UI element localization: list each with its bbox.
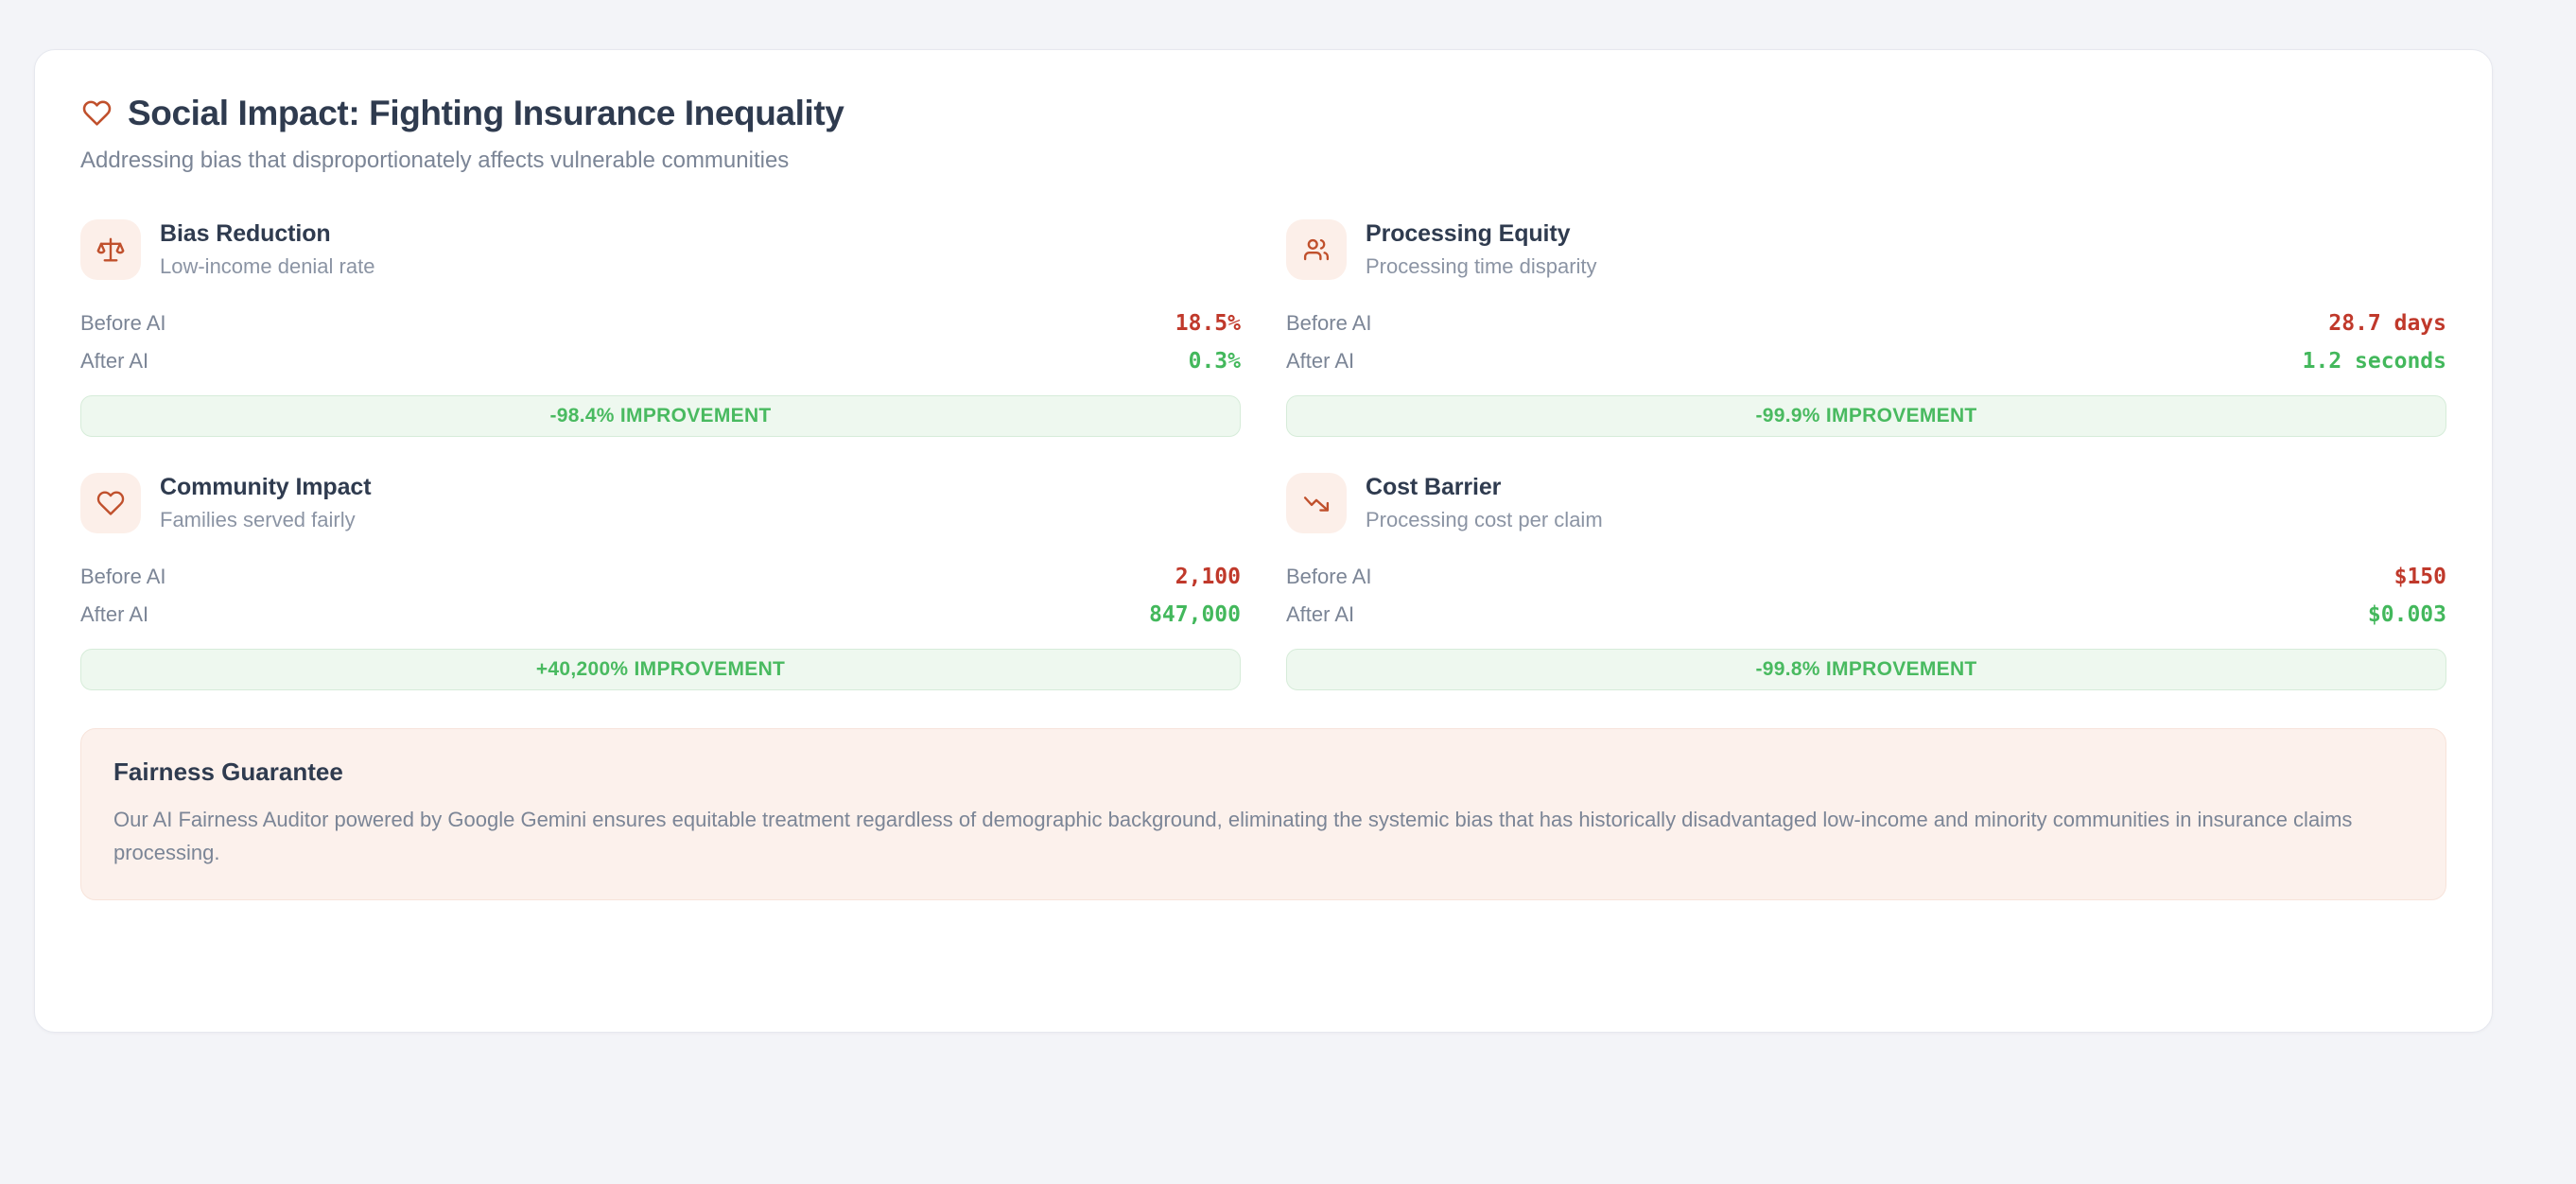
stat-row-after: After AI $0.003 [1286, 596, 2446, 634]
page-root: Social Impact: Fighting Insurance Inequa… [0, 0, 2576, 1184]
metric-titles: Cost Barrier Processing cost per claim [1366, 473, 1603, 532]
guarantee-body: Our AI Fairness Auditor powered by Googl… [113, 804, 2411, 870]
social-impact-panel: Social Impact: Fighting Insurance Inequa… [34, 49, 2493, 1033]
metric-card-processing-equity: Processing Equity Processing time dispar… [1286, 208, 2446, 437]
stat-value-before: 2,100 [1175, 565, 1241, 589]
improvement-badge: -99.8% IMPROVEMENT [1286, 649, 2446, 690]
stat-label-before: Before AI [80, 311, 166, 336]
metric-name: Processing Equity [1366, 219, 1597, 248]
stat-row-after: After AI 847,000 [80, 596, 1241, 634]
title-row: Social Impact: Fighting Insurance Inequa… [80, 94, 2446, 132]
improvement-badge: -99.9% IMPROVEMENT [1286, 395, 2446, 437]
metric-card-community-impact: Community Impact Families served fairly … [80, 461, 1241, 690]
stat-value-before: 28.7 days [2328, 311, 2446, 336]
metric-name: Community Impact [160, 473, 371, 501]
stat-label-after: After AI [80, 349, 148, 374]
improvement-badge: +40,200% IMPROVEMENT [80, 649, 1241, 690]
stat-label-after: After AI [1286, 349, 1354, 374]
stat-value-before: $150 [2394, 565, 2446, 589]
page-title: Social Impact: Fighting Insurance Inequa… [128, 94, 844, 132]
stat-label-before: Before AI [80, 565, 166, 589]
stat-value-before: 18.5% [1175, 311, 1241, 336]
trending-down-icon [1286, 473, 1347, 533]
heart-icon [80, 97, 113, 130]
heart-icon [80, 473, 141, 533]
stat-row-after: After AI 1.2 seconds [1286, 342, 2446, 380]
stat-label-after: After AI [1286, 602, 1354, 627]
metric-name: Cost Barrier [1366, 473, 1603, 501]
improvement-badge: -98.4% IMPROVEMENT [80, 395, 1241, 437]
stat-row-after: After AI 0.3% [80, 342, 1241, 380]
page-subtitle: Addressing bias that disproportionately … [80, 146, 2446, 175]
metric-description: Families served fairly [160, 508, 371, 532]
stat-label-before: Before AI [1286, 311, 1372, 336]
stat-row-before: Before AI $150 [1286, 558, 2446, 596]
metric-header: Bias Reduction Low-income denial rate [80, 219, 1241, 280]
metric-titles: Processing Equity Processing time dispar… [1366, 219, 1597, 279]
metric-grid: Bias Reduction Low-income denial rate Be… [80, 208, 2446, 690]
fairness-guarantee-note: Fairness Guarantee Our AI Fairness Audit… [80, 728, 2446, 901]
stat-value-after: $0.003 [2368, 602, 2446, 627]
stat-label-after: After AI [80, 602, 148, 627]
stat-row-before: Before AI 2,100 [80, 558, 1241, 596]
users-icon [1286, 219, 1347, 280]
metric-description: Low-income denial rate [160, 254, 374, 279]
stat-row-before: Before AI 18.5% [80, 305, 1241, 342]
metric-name: Bias Reduction [160, 219, 374, 248]
stat-label-before: Before AI [1286, 565, 1372, 589]
stat-row-before: Before AI 28.7 days [1286, 305, 2446, 342]
metric-header: Cost Barrier Processing cost per claim [1286, 473, 2446, 533]
metric-titles: Bias Reduction Low-income denial rate [160, 219, 374, 279]
metric-titles: Community Impact Families served fairly [160, 473, 371, 532]
stat-value-after: 847,000 [1149, 602, 1241, 627]
metric-card-cost-barrier: Cost Barrier Processing cost per claim B… [1286, 461, 2446, 690]
guarantee-title: Fairness Guarantee [113, 757, 2413, 787]
stat-value-after: 1.2 seconds [2303, 349, 2446, 374]
metric-description: Processing time disparity [1366, 254, 1597, 279]
panel-header: Social Impact: Fighting Insurance Inequa… [80, 94, 2446, 176]
metric-description: Processing cost per claim [1366, 508, 1603, 532]
metric-header: Processing Equity Processing time dispar… [1286, 219, 2446, 280]
metric-header: Community Impact Families served fairly [80, 473, 1241, 533]
stat-value-after: 0.3% [1189, 349, 1241, 374]
metric-card-bias-reduction: Bias Reduction Low-income denial rate Be… [80, 208, 1241, 437]
scales-balance-icon [80, 219, 141, 280]
